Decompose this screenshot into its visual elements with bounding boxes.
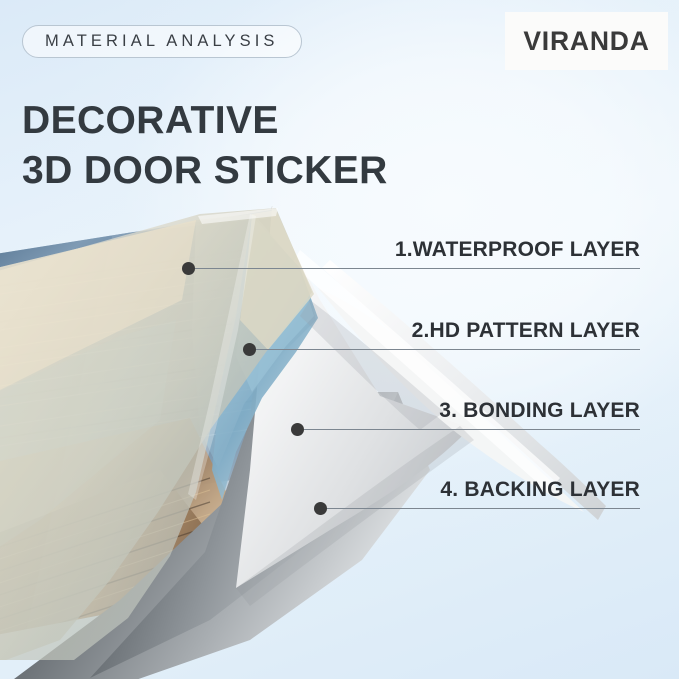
callout-leader-line-4 <box>320 508 640 509</box>
callout-label-1: 1.WATERPROOF LAYER <box>395 238 640 262</box>
page-title-line-2: 3D DOOR STICKER <box>22 146 388 196</box>
material-analysis-infographic: MATERIAL ANALYSIS DECORATIVE 3D DOOR STI… <box>0 0 679 679</box>
callout-dot-4 <box>314 502 327 515</box>
callout-leader-line-1 <box>188 268 640 269</box>
callout-dot-1 <box>182 262 195 275</box>
callout-leader-line-2 <box>249 349 640 350</box>
callout-dot-2 <box>243 343 256 356</box>
page-title-line-1: DECORATIVE <box>22 96 388 146</box>
material-analysis-badge: MATERIAL ANALYSIS <box>22 25 302 58</box>
callout-label-4: 4. BACKING LAYER <box>440 478 640 502</box>
badge-label: MATERIAL ANALYSIS <box>45 32 279 51</box>
callout-dot-3 <box>291 423 304 436</box>
callout-label-2: 2.HD PATTERN LAYER <box>412 319 640 343</box>
brand-logo: VIRANDA <box>505 12 668 70</box>
callout-leader-line-3 <box>297 429 640 430</box>
page-title: DECORATIVE 3D DOOR STICKER <box>22 96 388 196</box>
brand-name: VIRANDA <box>523 26 649 57</box>
callout-label-3: 3. BONDING LAYER <box>439 399 640 423</box>
